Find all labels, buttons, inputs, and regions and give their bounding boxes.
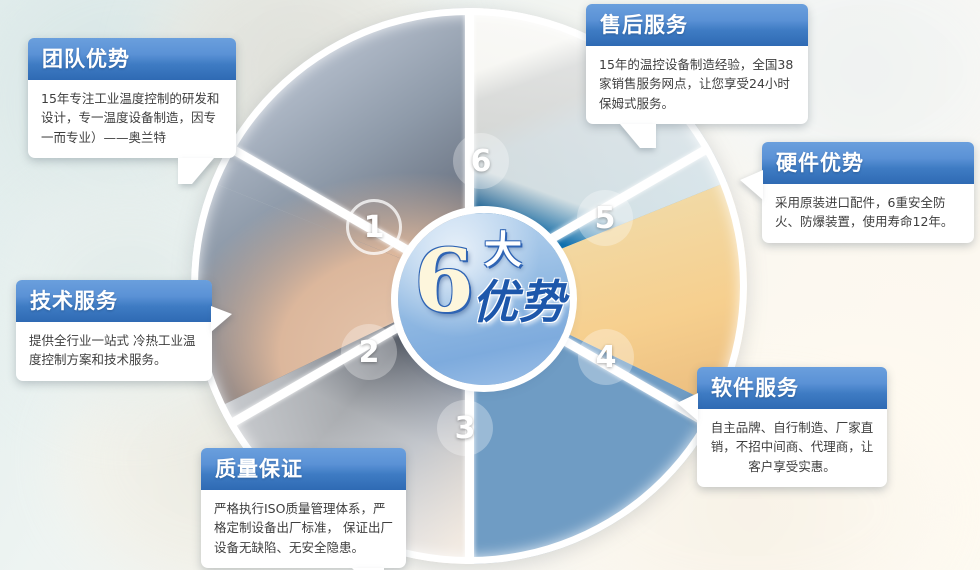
callout-card-hardware[interactable]: 硬件优势 采用原装进口配件，6重安全防火、防爆装置，使用寿命12年。: [762, 142, 974, 243]
segment-number-3[interactable]: 3: [437, 400, 493, 456]
segment-number-1[interactable]: 1: [346, 199, 402, 255]
callout-tail: [178, 158, 214, 184]
card-body-after-sales: 15年的温控设备制造经验，全国38家销售服务网点，让您享受24小时保姆式服务。: [586, 46, 808, 124]
card-body-hardware: 采用原装进口配件，6重安全防火、防爆装置，使用寿命12年。: [762, 184, 974, 243]
callout-tail: [211, 306, 232, 332]
card-title-quality: 质量保证: [201, 448, 406, 490]
center-badge: 6 大 优势: [398, 213, 570, 385]
segment-number-6[interactable]: 6: [453, 133, 509, 189]
card-body-software: 自主品牌、自行制造、厂家直销，不招中间商、代理商，让客户享受实惠。: [697, 409, 887, 487]
card-title-technical: 技术服务: [16, 280, 212, 322]
callout-card-after-sales[interactable]: 售后服务 15年的温控设备制造经验，全国38家销售服务网点，让您享受24小时保姆…: [586, 4, 808, 124]
card-title-hardware: 硬件优势: [762, 142, 974, 184]
segment-number-2[interactable]: 2: [341, 324, 397, 380]
segment-number-4[interactable]: 4: [578, 329, 634, 385]
callout-card-technical[interactable]: 技术服务 提供全行业一站式 冷热工业温度控制方案和技术服务。: [16, 280, 212, 381]
callout-tail: [677, 393, 698, 421]
card-title-after-sales: 售后服务: [586, 4, 808, 46]
callout-card-quality[interactable]: 质量保证 严格执行ISO质量管理体系，严格定制设备出厂标准， 保证出厂设备无缺陷…: [201, 448, 406, 568]
card-title-team: 团队优势: [28, 38, 236, 80]
callout-card-team[interactable]: 团队优势 15年专注工业温度控制的研发和设计，专一温度设备制造，因专一而专业）—…: [28, 38, 236, 158]
callout-tail: [740, 170, 763, 200]
infographic-canvas: 1 2 3 4 5 6 6 大 优势 团队优势 15年专注工业温度控制的研发和设…: [0, 0, 980, 570]
card-body-technical: 提供全行业一站式 冷热工业温度控制方案和技术服务。: [16, 322, 212, 381]
badge-word: 优势: [472, 279, 566, 325]
card-body-quality: 严格执行ISO质量管理体系，严格定制设备出厂标准， 保证出厂设备无缺陷、无安全隐…: [201, 490, 406, 568]
segment-number-5[interactable]: 5: [577, 190, 633, 246]
badge-unit-char: 大: [484, 231, 522, 269]
callout-card-software[interactable]: 软件服务 自主品牌、自行制造、厂家直销，不招中间商、代理商，让客户享受实惠。: [697, 367, 887, 487]
card-title-software: 软件服务: [697, 367, 887, 409]
badge-number: 6: [414, 239, 474, 325]
card-body-team: 15年专注工业温度控制的研发和设计，专一温度设备制造，因专一而专业）——奥兰特: [28, 80, 236, 158]
callout-tail: [620, 124, 656, 148]
